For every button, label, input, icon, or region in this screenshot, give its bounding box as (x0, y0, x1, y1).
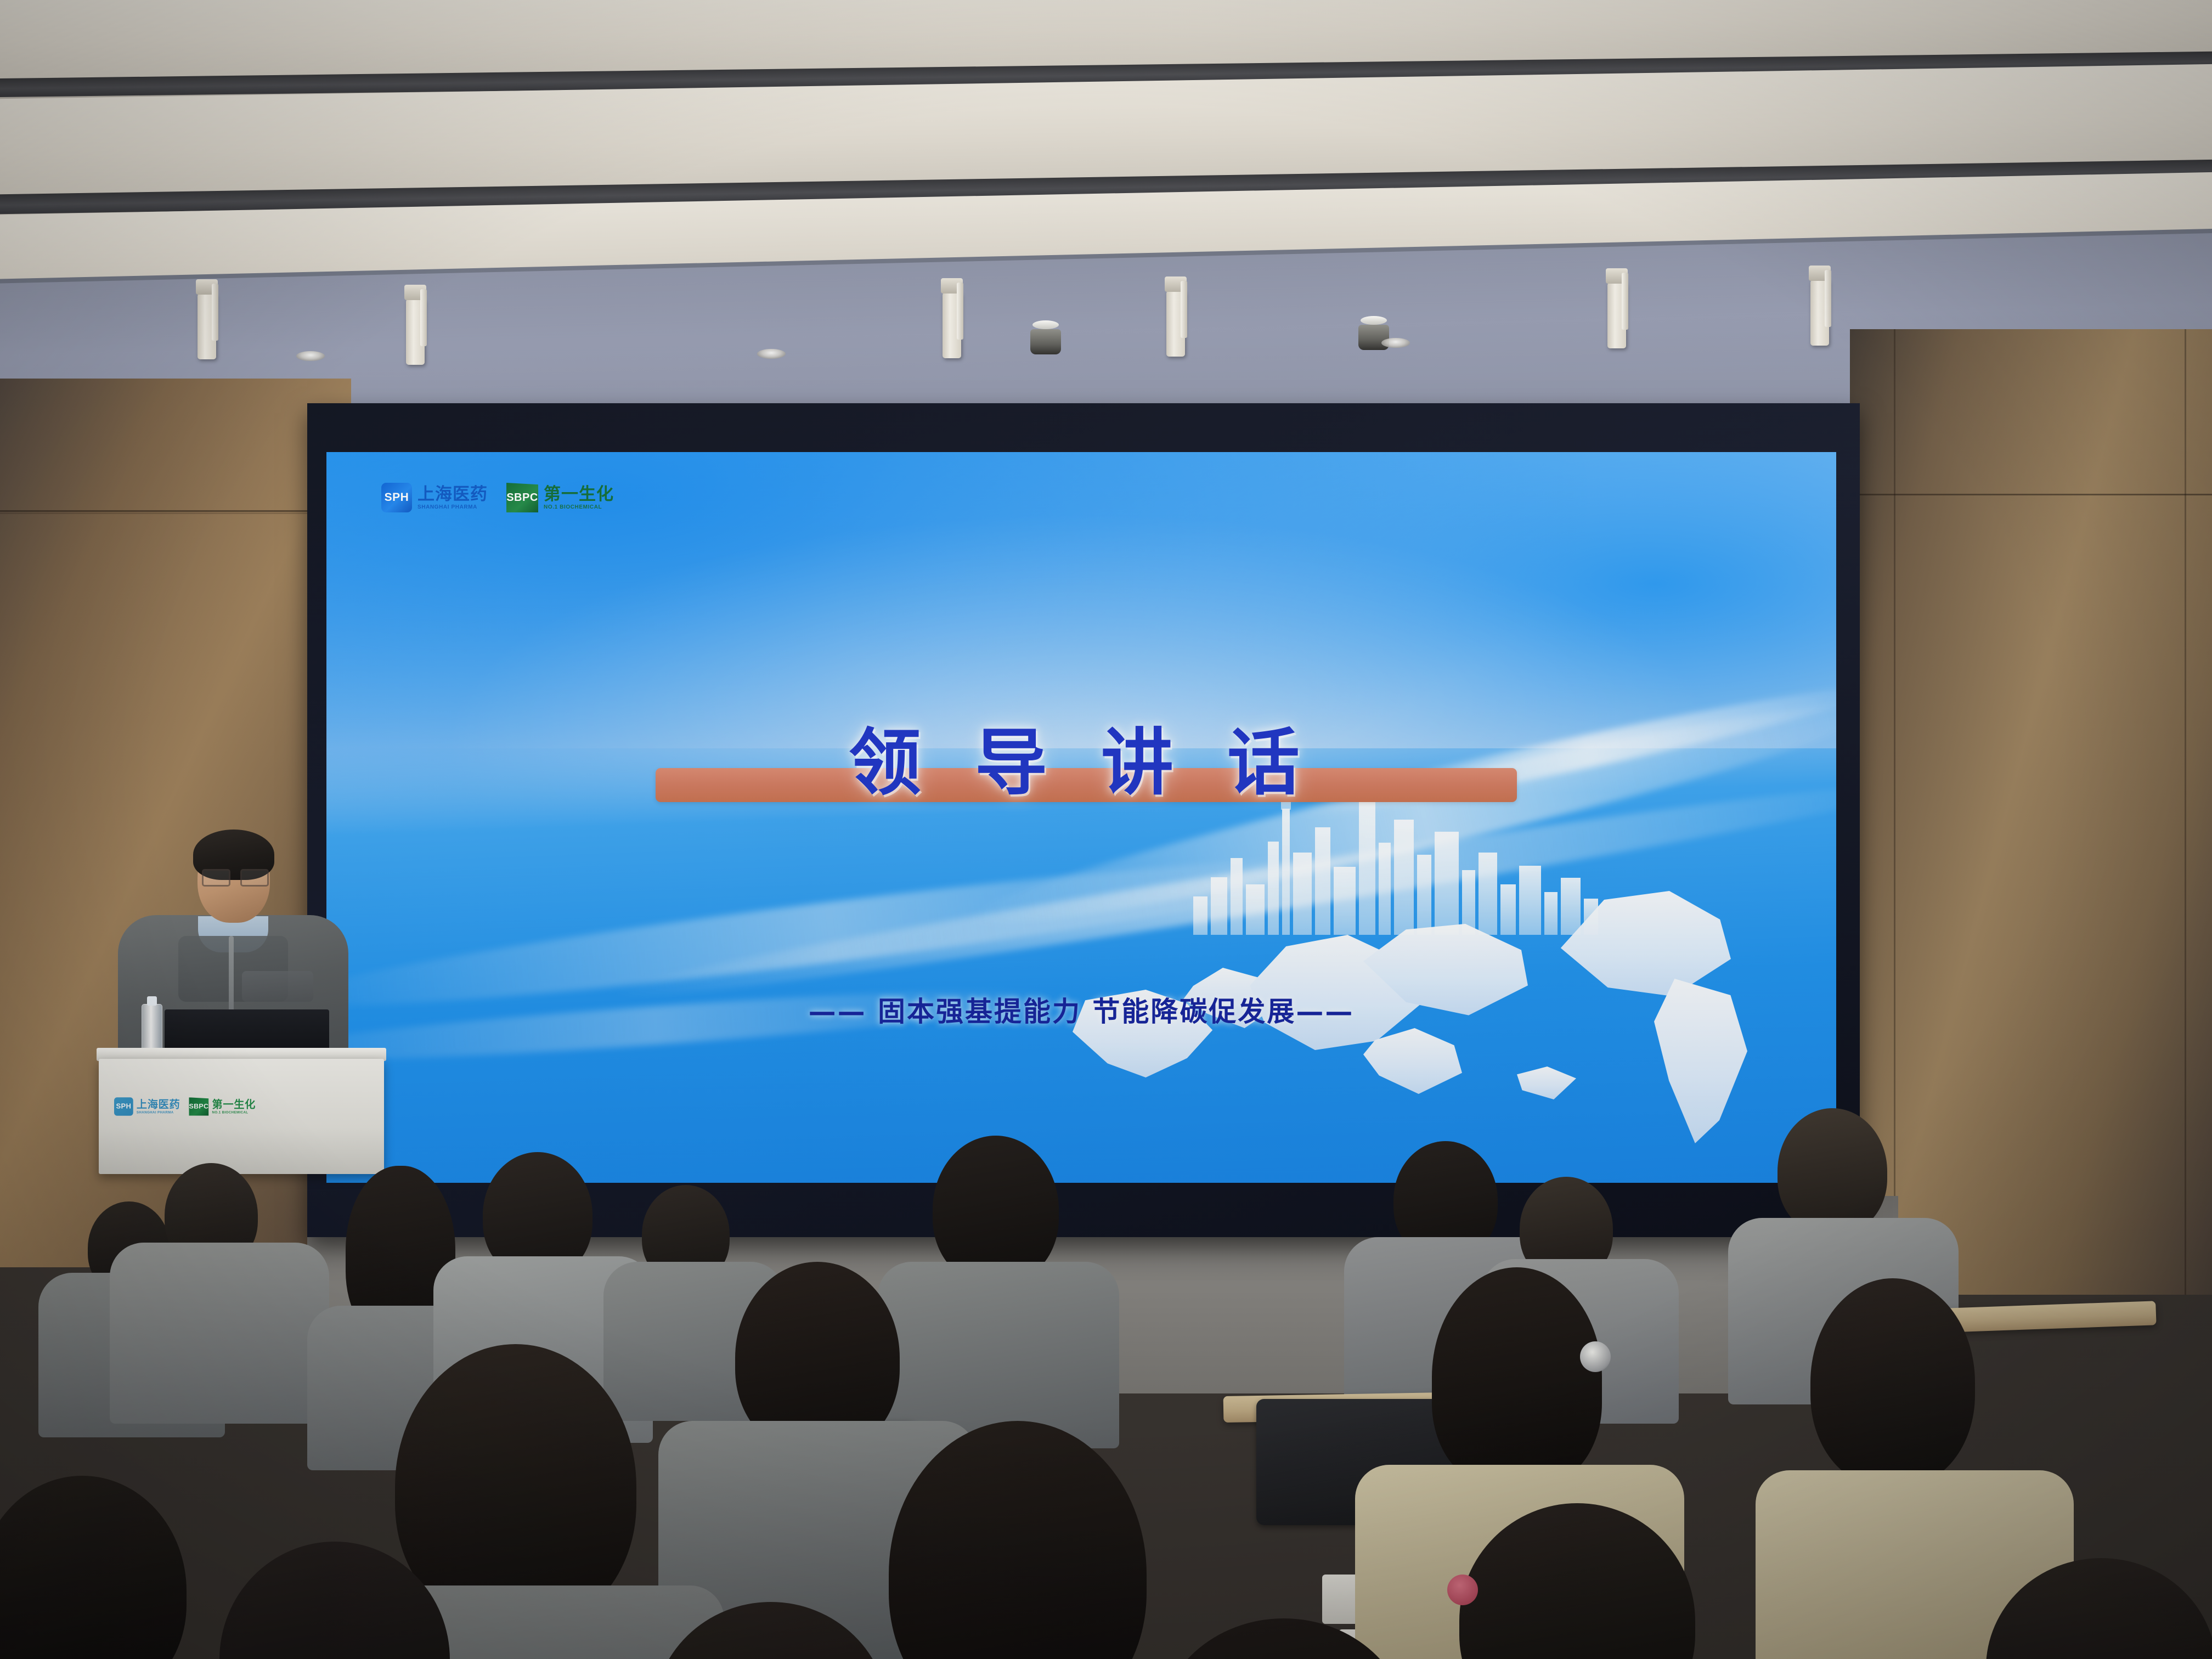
audience-head (1432, 1267, 1602, 1487)
hair-clip-icon (1580, 1341, 1611, 1372)
podium-logo-row: SPH 上海医药 SHANGHAI PHARMA SBPC 第一生化 NO.1 … (114, 1097, 256, 1115)
sbpc-mark-icon: SBPC (506, 483, 538, 512)
logo-sbpc: SBPC 第一生化 NO.1 BIOCHEMICAL (506, 483, 614, 512)
sph-english-name: SHANGHAI PHARMA (417, 505, 488, 510)
sph-mark-label: SPH (385, 491, 409, 504)
audience-head (1778, 1108, 1887, 1234)
sph-mark-icon: SPH (381, 483, 412, 512)
podium-sph-mark-label: SPH (116, 1103, 132, 1111)
podium-sph-chinese-name: 上海医药 (137, 1099, 180, 1109)
logo-sph: SPH 上海医药 SHANGHAI PHARMA (381, 483, 488, 512)
recessed-downlight-icon (296, 351, 325, 361)
podium-sbpc-english-name: NO.1 BIOCHEMICAL (212, 1111, 256, 1114)
track-spot-light-icon (406, 299, 425, 365)
podium-sbpc-mark-label: SBPC (189, 1103, 209, 1110)
podium-logo-sph: SPH 上海医药 SHANGHAI PHARMA (114, 1097, 180, 1115)
track-spot-light-icon (1810, 280, 1829, 346)
audience: SPH 樊娟娟 (0, 1125, 2212, 1659)
audience-head (0, 1476, 187, 1659)
track-spot-light-icon (1607, 283, 1626, 348)
sph-chinese-name: 上海医药 (417, 486, 488, 503)
sbpc-english-name: NO.1 BIOCHEMICAL (544, 505, 614, 510)
smoke-detector-icon (1358, 325, 1389, 350)
recessed-downlight-icon (757, 349, 786, 359)
glasses-icon (202, 869, 266, 883)
podium-sbpc-chinese-name: 第一生化 (212, 1099, 256, 1109)
smoke-detector-icon (1030, 329, 1061, 354)
slide-logo-row: SPH 上海医药 SHANGHAI PHARMA SBPC 第一生化 NO.1 … (381, 483, 614, 512)
audience-torso (878, 1262, 1119, 1448)
conference-room-photo: SPH 上海医药 SHANGHAI PHARMA SBPC 第一生化 NO.1 … (0, 0, 2212, 1659)
audience-head (1810, 1278, 1975, 1487)
podium-sph-mark-icon: SPH (114, 1097, 133, 1115)
track-spot-light-icon (198, 294, 216, 359)
slide-subtitle: —— 固本强基提能力 节能降碳促发展—— (326, 990, 1836, 1029)
podium-sph-english-name: SHANGHAI PHARMA (137, 1111, 180, 1114)
hair-accessory-icon (1447, 1575, 1478, 1605)
recessed-downlight-icon (1381, 338, 1410, 348)
audience-torso (110, 1243, 329, 1424)
track-spot-light-icon (943, 292, 961, 358)
podium-logo-sbpc: SBPC 第一生化 NO.1 BIOCHEMICAL (189, 1097, 256, 1115)
slide-title: 领 导 讲 话 (326, 704, 1836, 809)
sbpc-chinese-name: 第一生化 (544, 486, 614, 503)
speaker-jacket-pocket (242, 971, 313, 1002)
presentation-slide[interactable]: SPH 上海医药 SHANGHAI PHARMA SBPC 第一生化 NO.1 … (326, 452, 1836, 1183)
track-spot-light-icon (1166, 291, 1185, 357)
podium-sbpc-mark-icon: SBPC (189, 1097, 208, 1115)
sbpc-mark-label: SBPC (506, 492, 538, 504)
